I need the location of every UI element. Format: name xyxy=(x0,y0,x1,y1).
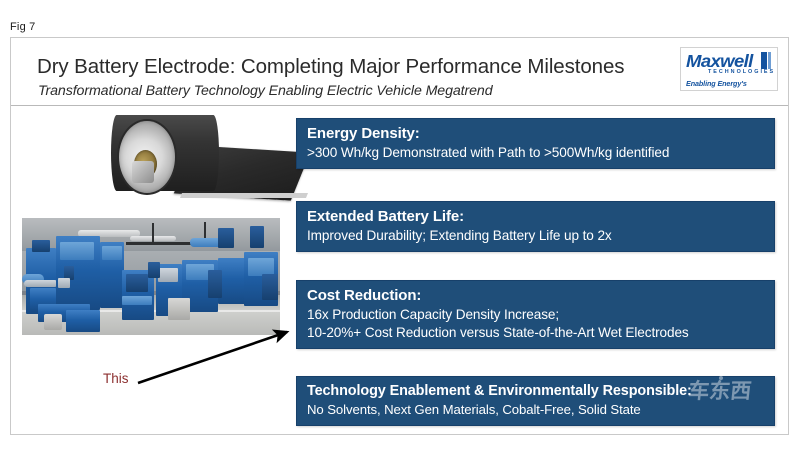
logo-sub-wordmark: TECHNOLOGIES xyxy=(708,69,775,75)
factory-machine xyxy=(44,314,62,330)
factory-machine xyxy=(126,274,148,292)
factory-machine xyxy=(158,268,178,282)
factory-machine xyxy=(168,298,190,320)
slide-content: Dry Battery Electrode: Completing Major … xyxy=(11,38,788,434)
electrode-roll-hub xyxy=(132,161,154,183)
header-divider xyxy=(11,105,788,106)
factory-machine xyxy=(250,226,264,248)
maxwell-logo: Maxwell TECHNOLOGIES Enabling Energy's F… xyxy=(680,47,778,91)
milestone-box-energy-density: Energy Density: >300 Wh/kg Demonstrated … xyxy=(296,118,775,169)
milestone-line: >300 Wh/kg Demonstrated with Path to >50… xyxy=(307,144,774,162)
milestone-title: Technology Enablement & Environmentally … xyxy=(307,382,774,401)
milestone-line: Improved Durability; Extending Battery L… xyxy=(307,227,774,245)
milestone-box-cost-reduction: Cost Reduction: 16x Production Capacity … xyxy=(296,280,775,349)
factory-machine xyxy=(102,246,122,260)
factory-machine xyxy=(60,242,94,260)
electrode-roll-body xyxy=(111,115,219,191)
factory-machine xyxy=(262,274,278,300)
factory-machine xyxy=(148,262,160,278)
page-subtitle: Transformational Battery Technology Enab… xyxy=(38,83,493,99)
annotation-this-label: This xyxy=(103,371,129,386)
milestone-line: 16x Production Capacity Density Increase… xyxy=(307,306,774,324)
milestone-line: No Solvents, Next Gen Materials, Cobalt-… xyxy=(307,401,774,419)
factory-machine xyxy=(218,228,234,248)
factory-photo xyxy=(22,218,280,335)
factory-machine xyxy=(208,270,222,298)
factory-machine xyxy=(32,240,50,252)
factory-machine xyxy=(122,296,152,305)
factory-machine xyxy=(218,258,246,304)
slide-page: Fig 7 Dry Battery Electrode: Completing … xyxy=(0,0,800,450)
slide-frame: Dry Battery Electrode: Completing Major … xyxy=(10,37,789,435)
factory-machine xyxy=(24,280,58,287)
milestone-title: Extended Battery Life: xyxy=(307,207,774,227)
milestone-box-technology-enablement: Technology Enablement & Environmentally … xyxy=(296,376,775,426)
figure-label: Fig 7 xyxy=(10,21,35,33)
factory-pipe xyxy=(152,223,154,245)
factory-machine xyxy=(66,310,100,332)
electrode-sheet-edge xyxy=(180,193,308,198)
electrode-roll-image xyxy=(89,111,299,203)
milestone-title: Cost Reduction: xyxy=(307,286,774,306)
logo-bar-secondary-icon xyxy=(768,52,771,69)
logo-bar-icon xyxy=(761,52,767,69)
factory-machine xyxy=(58,278,70,288)
milestone-box-extended-battery-life: Extended Battery Life: Improved Durabili… xyxy=(296,201,775,252)
milestone-title: Energy Density: xyxy=(307,124,774,144)
logo-tagline: Enabling Energy's Future™ xyxy=(686,79,777,91)
page-title: Dry Battery Electrode: Completing Major … xyxy=(37,55,624,79)
milestone-line: 10-20%+ Cost Reduction versus State-of-t… xyxy=(307,324,774,342)
